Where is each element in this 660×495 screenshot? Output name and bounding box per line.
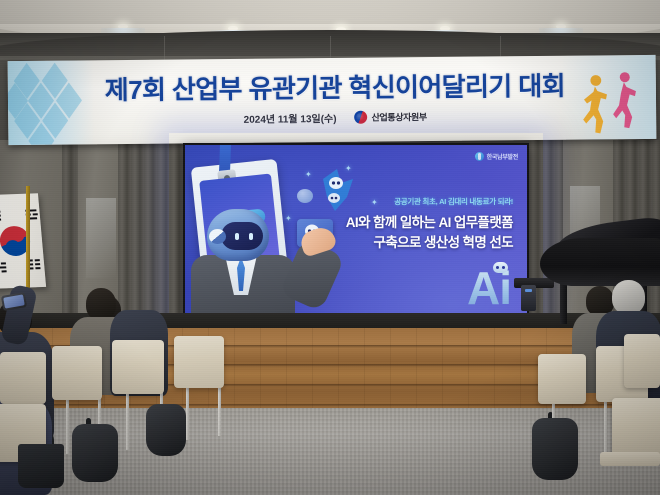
chair-back-2[interactable] — [52, 346, 102, 400]
ai-mascot-icon — [317, 167, 357, 213]
glass-reflection-left — [86, 198, 116, 278]
trigram-18 — [35, 267, 40, 269]
trigram-14 — [35, 259, 40, 261]
screen-headline-line1: AI와 함께 일하는 AI 업무플랫폼 — [346, 213, 513, 233]
ministry-logo: 산업통상자원부 — [354, 110, 426, 124]
robot-head — [207, 209, 269, 261]
robot-eye-left — [235, 233, 239, 240]
trigram-9 — [1, 262, 6, 264]
projection-screen: ✦ ✦ ✦ ✦ ✦ ✦ 한국남부발전 — [185, 145, 527, 313]
robot-visor — [221, 222, 263, 250]
chair-back-3[interactable] — [112, 340, 164, 394]
person-head — [124, 282, 152, 313]
chair-back-6[interactable] — [538, 354, 586, 404]
kospo-logo: 한국남부발전 — [475, 152, 518, 161]
piano-leg-1 — [560, 282, 567, 324]
trigram-3 — [0, 219, 1, 221]
runner-figure-pink — [610, 69, 641, 131]
chair-leg-2 — [66, 400, 69, 454]
screen-tagline: 공공기관 최초, AI 김대리 내동료가 되라! — [394, 196, 513, 207]
banner-title: 제7회 산업부 유관기관 혁신이어달리기 대회 — [70, 65, 600, 107]
chair-back-1[interactable] — [0, 352, 46, 404]
backpack-right[interactable] — [532, 418, 578, 480]
ministry-name: 산업통상자원부 — [371, 110, 426, 124]
chair-leg-4 — [126, 394, 129, 450]
taeguk-mark-icon — [354, 111, 367, 124]
sparkle-icon-4: ✦ — [285, 215, 292, 223]
trigram-12 — [2, 270, 7, 272]
chair-seat-front-right[interactable] — [600, 452, 660, 466]
ai-robot-dot-icon — [493, 262, 508, 273]
robot-body — [191, 255, 295, 313]
screen-headline-line2: 구축으로 생산성 혁명 선도 — [346, 233, 513, 253]
ai-watermark: Ai — [467, 268, 511, 309]
chair-leg-8 — [604, 402, 607, 454]
person-head — [86, 288, 116, 320]
chair-back-4[interactable] — [174, 336, 224, 388]
sparkle-icon-2: ✦ — [371, 199, 378, 207]
chair-leg-6 — [186, 388, 189, 440]
chair-back-front-right[interactable] — [612, 398, 660, 460]
person-head-gray — [612, 280, 645, 314]
projection-screen-frame: ✦ ✦ ✦ ✦ ✦ ✦ 한국남부발전 — [183, 143, 529, 315]
stage-monitor-speaker — [521, 285, 536, 311]
monitor-led-icon — [525, 289, 532, 292]
chair-leg-7 — [218, 386, 221, 436]
grand-piano — [540, 238, 660, 286]
trigram-16 — [35, 263, 40, 265]
trigram-10 — [0, 266, 6, 268]
banner-subtitle-row: 2024년 11월 13일(수) 산업통상자원부 — [70, 107, 600, 127]
orb-decoration — [297, 189, 313, 203]
trigram-6 — [33, 213, 38, 215]
korean-flag — [0, 193, 46, 288]
chair-back-7[interactable] — [624, 334, 660, 388]
banner-date: 2024년 11월 13일(수) — [244, 110, 337, 126]
screen-headline: AI와 함께 일하는 AI 업무플랫폼 구축으로 생산성 혁명 선도 — [346, 213, 513, 252]
tote-bag-left[interactable] — [18, 444, 64, 488]
robot-eye-right — [249, 233, 253, 240]
kospo-name: 한국남부발전 — [487, 152, 518, 161]
conference-hall-photo: 제7회 산업부 유관기관 혁신이어달리기 대회 2024년 11월 13일(수)… — [0, 0, 660, 495]
sparkle-icon-1: ✦ — [305, 171, 312, 179]
trigram-2 — [0, 215, 1, 217]
event-banner: 제7회 산업부 유관기관 혁신이어달리기 대회 2024년 11월 13일(수)… — [8, 55, 657, 145]
phone-screen — [3, 294, 25, 308]
robot-ear-icon — [209, 229, 226, 244]
backpack-left[interactable] — [72, 424, 118, 482]
kospo-mark-icon — [475, 152, 484, 161]
curtain-left-1 — [62, 140, 78, 322]
backpack-center-left[interactable] — [146, 404, 186, 456]
